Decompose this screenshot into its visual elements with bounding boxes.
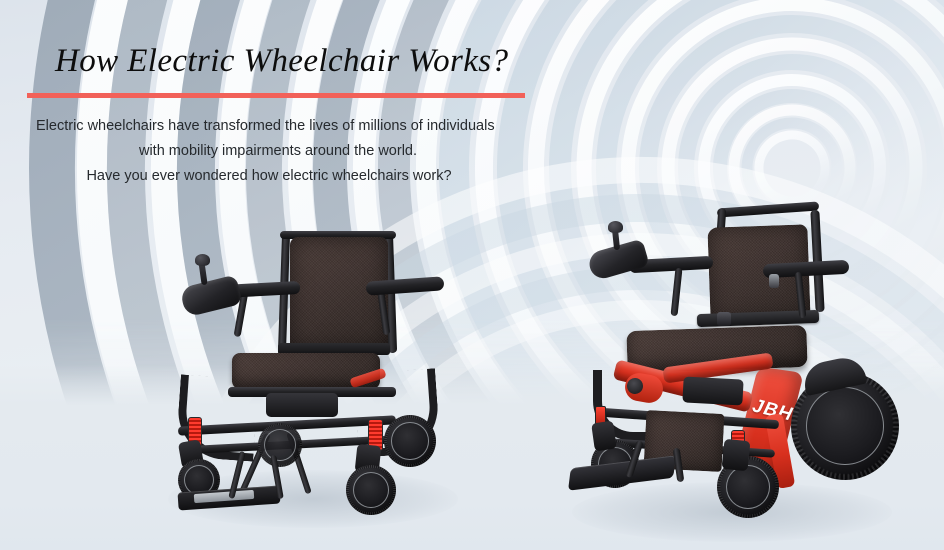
right-armrest-knob[interactable] bbox=[769, 274, 779, 288]
left-rear-drive-wheel bbox=[258, 423, 302, 467]
left-front-caster-wheel-right bbox=[346, 465, 396, 515]
left-motor-housing bbox=[266, 393, 338, 417]
right-wheelchair: JBH bbox=[565, 200, 895, 530]
left-joystick-knob[interactable] bbox=[195, 254, 210, 266]
left-rear-drive-tread bbox=[258, 423, 302, 467]
intro-line-1: Electric wheelchairs have transformed th… bbox=[30, 114, 526, 139]
right-caster-fork-left bbox=[591, 421, 617, 452]
left-rear-drive-wheel-right bbox=[384, 415, 436, 467]
banner-stage: How Electric Wheelchair Works? Electric … bbox=[0, 0, 944, 550]
page-title: How Electric Wheelchair Works? bbox=[55, 41, 508, 81]
left-wheelchair bbox=[160, 225, 450, 525]
left-front-caster-tread-right bbox=[346, 465, 396, 515]
right-push-handle-bar bbox=[717, 201, 819, 217]
right-joystick-knob[interactable] bbox=[608, 221, 623, 233]
title-underline bbox=[27, 93, 525, 98]
right-seat-belt-buckle[interactable] bbox=[717, 312, 731, 326]
intro-line-2: with mobility impairments around the wor… bbox=[30, 139, 526, 164]
right-armrest-support-left bbox=[671, 268, 683, 316]
intro-paragraph: Electric wheelchairs have transformed th… bbox=[30, 114, 526, 189]
right-motor-housing bbox=[682, 376, 743, 405]
intro-line-3: Have you ever wondered how electric whee… bbox=[30, 164, 526, 189]
left-joystick-housing bbox=[179, 274, 243, 317]
right-caster-fork-right bbox=[722, 439, 751, 472]
left-rear-drive-tread-right bbox=[384, 415, 436, 467]
